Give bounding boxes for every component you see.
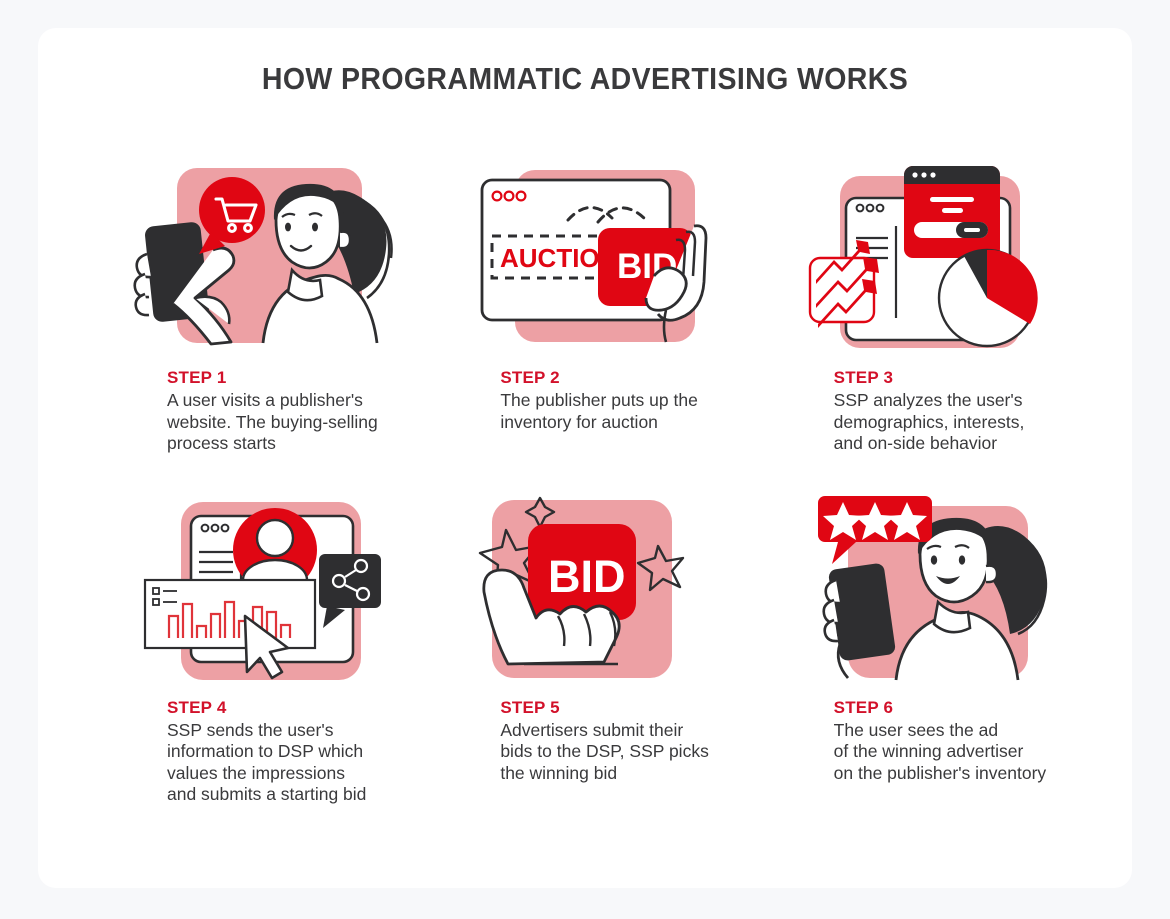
dialog-slider-mark — [964, 228, 980, 232]
eye-right — [958, 555, 964, 564]
step-cell-4: STEP 4 SSP sends the user's information … — [129, 488, 462, 806]
infographic-page: HOW PROGRAMMATIC ADVERTISING WORKS — [0, 0, 1170, 919]
step-1-body: A user visits a publisher's website. The… — [167, 390, 462, 455]
steps-row-1: STEP 1 A user visits a publisher's websi… — [129, 158, 1129, 455]
step-cell-2: AUCTION BID STEP 2 The — [462, 158, 795, 455]
avatar-head — [257, 520, 293, 556]
step-3-illustration — [804, 158, 1084, 358]
share-bubble — [319, 554, 381, 608]
bid-text: BID — [548, 551, 626, 602]
step-2-label: STEP 2 — [500, 368, 795, 388]
ear — [340, 232, 350, 248]
dialog-titlebar — [904, 166, 1000, 184]
step-4-label: STEP 4 — [167, 698, 462, 718]
step-1-label: STEP 1 — [167, 368, 462, 388]
step-cell-3: STEP 3 SSP analyzes the user's demograph… — [796, 158, 1129, 455]
step-cell-6: STEP 6 The user sees the ad of the winni… — [796, 488, 1129, 806]
step-5-illustration: BID — [470, 488, 750, 688]
step-3-body: SSP analyzes the user's demographics, in… — [834, 390, 1129, 455]
dialog-dot-2 — [921, 172, 926, 177]
step-cell-5: BID STEP 5 Advertisers submit their bids… — [462, 488, 795, 806]
dialog-dot-1 — [912, 172, 917, 177]
step-2-illustration: AUCTION BID — [470, 158, 750, 358]
step-5-body: Advertisers submit their bids to the DSP… — [500, 720, 795, 785]
step-6-label: STEP 6 — [834, 698, 1129, 718]
eye-right — [312, 223, 318, 232]
step-2-body: The publisher puts up the inventory for … — [500, 390, 795, 433]
page-title: HOW PROGRAMMATIC ADVERTISING WORKS — [82, 61, 1088, 97]
steps-row-2: STEP 4 SSP sends the user's information … — [129, 488, 1129, 806]
eye-left — [285, 223, 291, 232]
step-3-label: STEP 3 — [834, 368, 1129, 388]
dialog-line-1 — [930, 197, 974, 202]
ear — [986, 565, 997, 581]
step-1-illustration — [137, 158, 417, 358]
dialog-dot-3 — [930, 172, 935, 177]
steps-grid: STEP 1 A user visits a publisher's websi… — [129, 158, 1129, 806]
step-cell-1: STEP 1 A user visits a publisher's websi… — [129, 158, 462, 455]
infographic-card: HOW PROGRAMMATIC ADVERTISING WORKS — [38, 28, 1132, 888]
eye-left — [930, 555, 936, 564]
step-4-illustration — [137, 488, 417, 688]
dialog-line-2 — [942, 208, 963, 213]
step-6-illustration — [804, 488, 1084, 688]
step-6-body: The user sees the ad of the winning adve… — [834, 720, 1129, 785]
step-4-body: SSP sends the user's information to DSP … — [167, 720, 462, 806]
step-5-label: STEP 5 — [500, 698, 795, 718]
